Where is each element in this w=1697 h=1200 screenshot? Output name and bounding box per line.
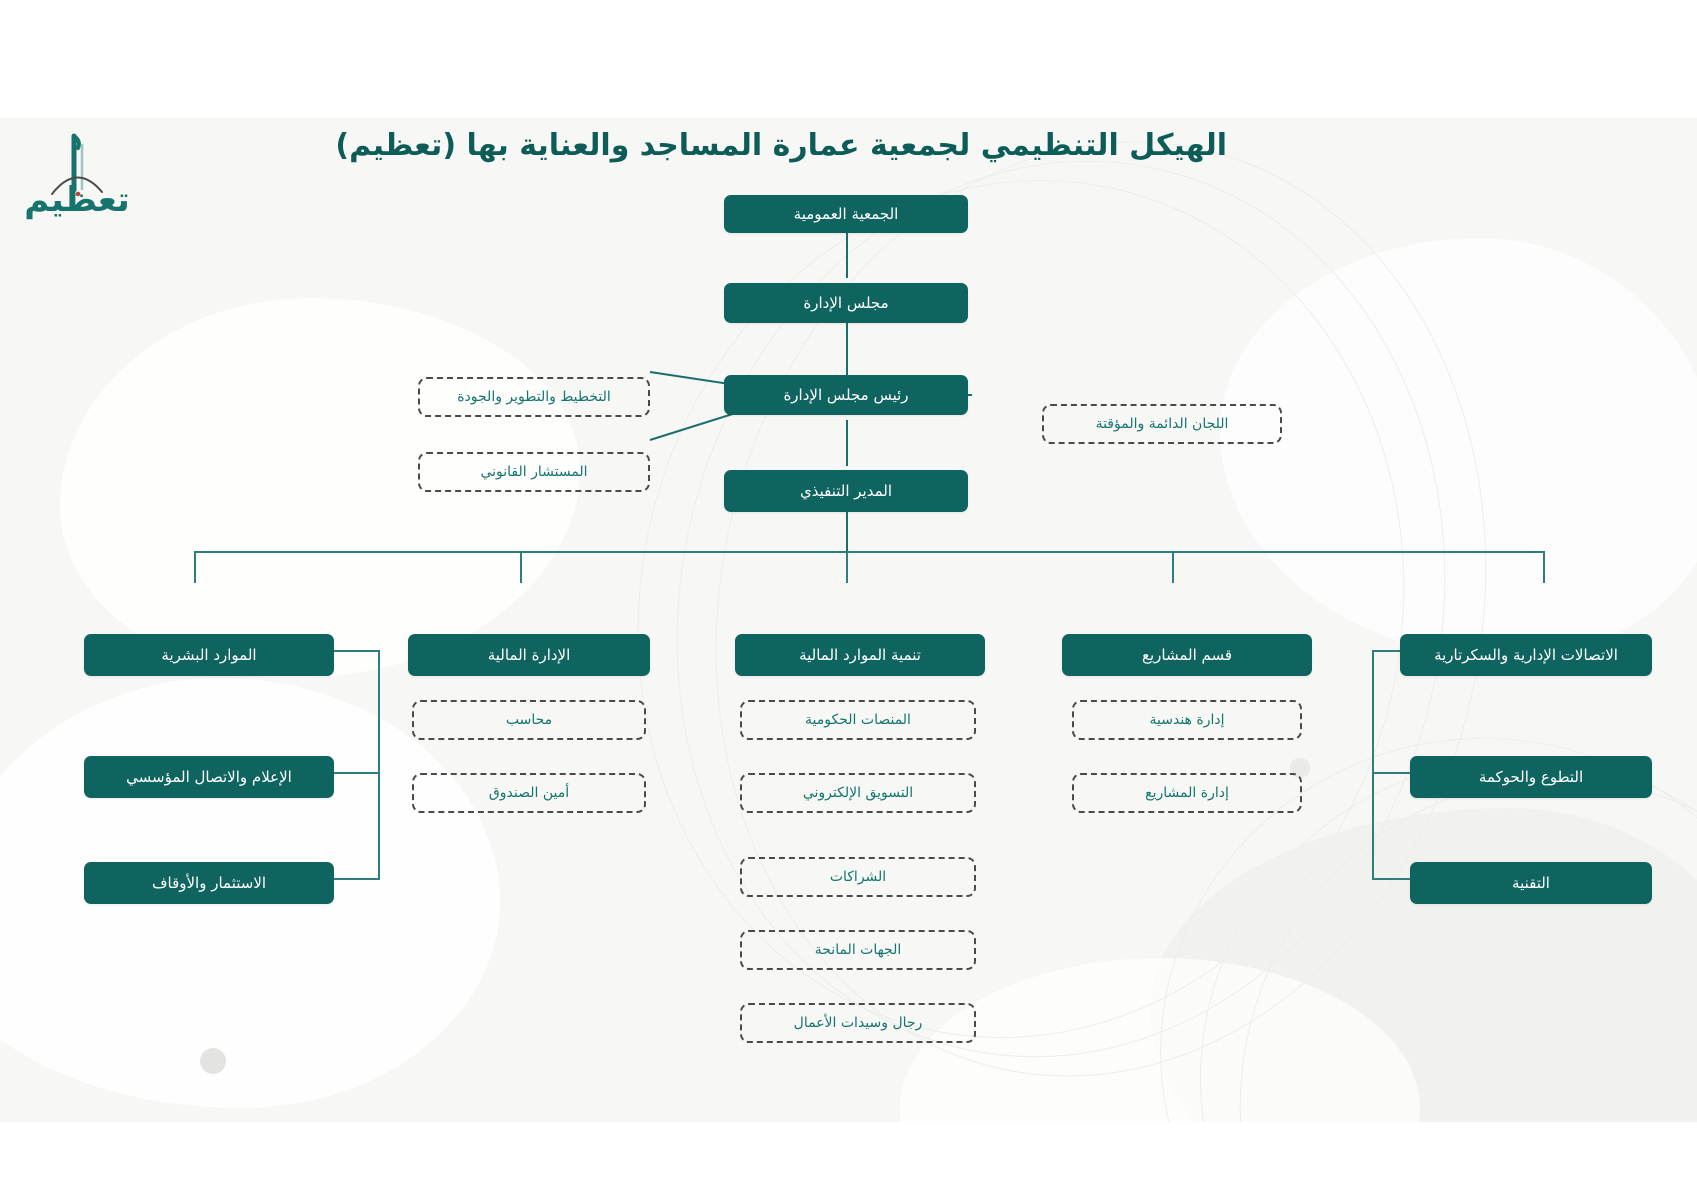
department-child-investment-endowments[interactable]: الاستثمار والأوقاف (84, 862, 334, 904)
connector-hr-investment (334, 878, 380, 880)
node-board-of-directors[interactable]: مجلس الإدارة (724, 283, 968, 323)
department-child-volunteering-governance[interactable]: التطوع والحوكمة (1410, 756, 1652, 798)
department-child-accountant[interactable]: محاسب (412, 700, 646, 740)
department-child-media-corporate-communication[interactable]: الإعلام والاتصال المؤسسي (84, 756, 334, 798)
department-child-engineering-management[interactable]: إدارة هندسية (1072, 700, 1302, 740)
connector-board-chairman (846, 322, 848, 376)
department-child-treasurer[interactable]: أمين الصندوق (412, 773, 646, 813)
connector-drop-finance (520, 551, 522, 583)
department-header-financial-resources-development[interactable]: تنمية الموارد المالية (735, 634, 985, 676)
node-board-chairman[interactable]: رئيس مجلس الإدارة (724, 375, 968, 415)
connector-admin-branch-spine (1372, 650, 1374, 880)
department-child-partnerships[interactable]: الشراكات (740, 857, 976, 897)
connector-chairman-exec (846, 420, 848, 466)
organization-chart-canvas: تعظيم الهيكل التنظيمي لجمعية عمارة المسا… (0, 0, 1697, 1200)
node-general-assembly[interactable]: الجمعية العمومية (724, 195, 968, 233)
connector-drop-hr (194, 551, 196, 583)
department-header-projects[interactable]: قسم المشاريع (1062, 634, 1312, 676)
connector-drop-projects (1172, 551, 1174, 583)
connector-exec-bus (846, 511, 848, 552)
connector-assembly-board (846, 232, 848, 278)
department-child-businessmen-businesswomen[interactable]: رجال وسيدات الأعمال (740, 1003, 976, 1043)
connector-hr-branch-spine (378, 650, 380, 880)
connector-department-bus (194, 551, 1544, 553)
connector-drop-admin-comms (1543, 551, 1545, 583)
logo-wordmark: تعظيم (22, 180, 132, 220)
node-legal-advisor[interactable]: المستشار القانوني (418, 452, 650, 492)
department-child-government-platforms[interactable]: المنصات الحكومية (740, 700, 976, 740)
department-header-financial-administration[interactable]: الإدارة المالية (408, 634, 650, 676)
department-header-admin-communications[interactable]: الاتصالات الإدارية والسكرتارية (1400, 634, 1652, 676)
connector-drop-resource-dev (846, 551, 848, 583)
background-dot (200, 1048, 226, 1074)
department-child-digital-marketing[interactable]: التسويق الإلكتروني (740, 773, 976, 813)
node-planning-development-quality[interactable]: التخطيط والتطوير والجودة (418, 377, 650, 417)
department-child-donor-entities[interactable]: الجهات المانحة (740, 930, 976, 970)
department-child-technology[interactable]: التقنية (1410, 862, 1652, 904)
chart-background (0, 118, 1697, 1122)
node-executive-director[interactable]: المدير التنفيذي (724, 470, 968, 512)
taazeem-logo: تعظيم (22, 128, 132, 228)
department-header-human-resources[interactable]: الموارد البشرية (84, 634, 334, 676)
connector-hr-top (334, 650, 380, 652)
node-standing-temporary-committees[interactable]: اللجان الدائمة والمؤقتة (1042, 404, 1282, 444)
connector-hr-media (334, 772, 380, 774)
page-title: الهيكل التنظيمي لجمعية عمارة المساجد وال… (227, 128, 1227, 163)
department-child-project-management[interactable]: إدارة المشاريع (1072, 773, 1302, 813)
